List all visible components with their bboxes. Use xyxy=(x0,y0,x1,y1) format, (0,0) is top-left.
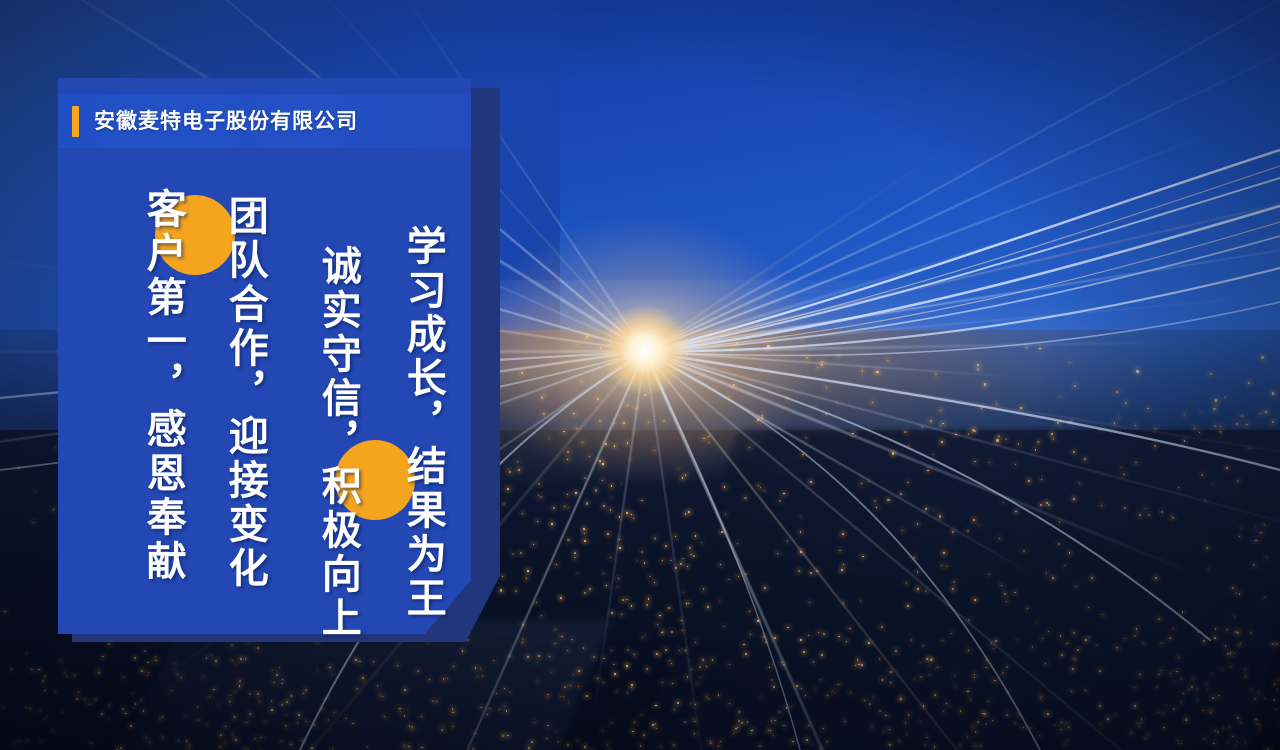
poster-stage: 安徽麦特电子股份有限公司 学习成长，结果为王 诚实守信，积极向上 团队合作，迎接… xyxy=(0,0,1280,750)
accent-bar-icon xyxy=(72,106,79,137)
slogan-column-3: 团队合作，迎接变化 xyxy=(218,195,271,591)
company-name-title: 安徽麦特电子股份有限公司 xyxy=(94,111,358,132)
slogan-column-4: 客户第一，感恩奉献 xyxy=(136,188,189,584)
slogan-column-2: 诚实守信，积极向上 xyxy=(311,245,364,641)
slogan-block: 学习成长，结果为王 诚实守信，积极向上 团队合作，迎接变化 客户第一，感恩奉献 xyxy=(58,170,471,630)
panel-header: 安徽麦特电子股份有限公司 xyxy=(58,94,471,148)
slogan-column-1: 学习成长，结果为王 xyxy=(396,225,449,621)
